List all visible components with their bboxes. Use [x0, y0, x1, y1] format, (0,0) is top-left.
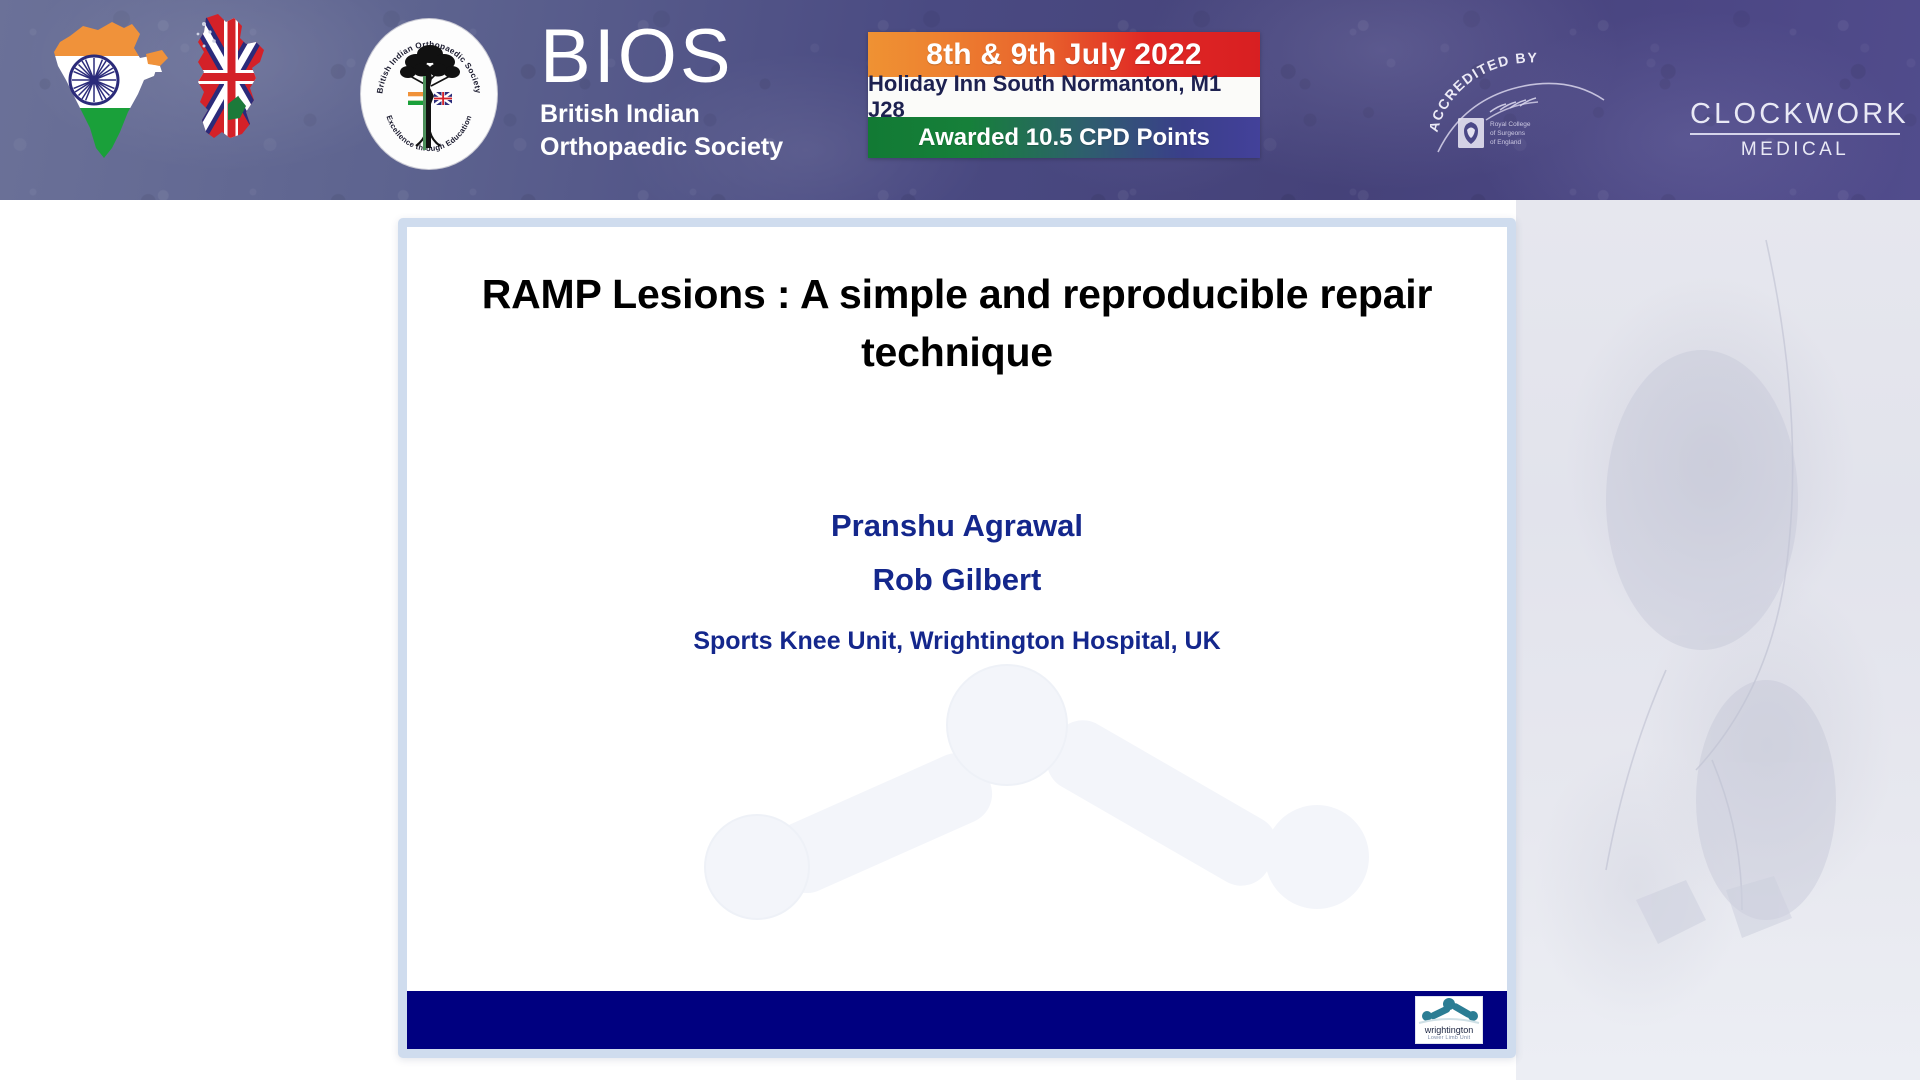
sponsor-subtitle: MEDICAL: [1690, 139, 1900, 161]
presentation-slide[interactable]: RAMP Lesions : A simple and reproducible…: [398, 218, 1516, 1058]
accreditation-mark: ACCREDITED BY Royal College of Surg: [1430, 48, 1660, 168]
conference-header-banner: British Indian Orthopaedic Society Excel…: [0, 0, 1920, 200]
sponsor-name: CLOCKWORK: [1690, 98, 1900, 130]
royal-college-line-2: of Surgeons: [1490, 130, 1526, 137]
presentation-screen: British Indian Orthopaedic Society Excel…: [0, 0, 1920, 1080]
background-ghost-image: [1516, 200, 1920, 1080]
sponsor-clockwork-medical: CLOCKWORK MEDICAL: [1690, 98, 1900, 161]
bios-wordmark: BIOS British Indian Orthopaedic Society: [540, 18, 783, 162]
royal-college-crest-icon: [1458, 118, 1484, 148]
slide-footer-bar: wrightington Lower Limb Unit: [407, 991, 1507, 1049]
author-list: Pranshu Agrawal Rob Gilbert: [447, 499, 1467, 607]
wrightington-logo-name: wrightington: [1425, 1025, 1474, 1035]
author-name: Rob Gilbert: [447, 553, 1467, 607]
royal-college-line-3: of England: [1490, 139, 1521, 146]
bios-tree-emblem-icon: British Indian Orthopaedic Society Excel…: [360, 18, 498, 170]
bios-acronym: BIOS: [540, 18, 783, 96]
slide-title: RAMP Lesions : A simple and reproducible…: [447, 265, 1467, 381]
india-uk-flag-map-icon: [28, 8, 278, 168]
event-cpd-points: Awarded 10.5 CPD Points: [868, 117, 1260, 158]
wrightington-footer-logo: wrightington Lower Limb Unit: [1415, 996, 1483, 1044]
bios-name-line-2: Orthopaedic Society: [540, 133, 783, 162]
event-details-banner: 8th & 9th July 2022 Holiday Inn South No…: [868, 32, 1260, 158]
author-affiliation: Sports Knee Unit, Wrightington Hospital,…: [447, 627, 1467, 656]
slide-content-area: RAMP Lesions : A simple and reproducible…: [407, 227, 1507, 1049]
wrightington-logo-subtitle: Lower Limb Unit: [1428, 1035, 1471, 1042]
wrightington-limb-watermark-icon: [617, 657, 1417, 937]
event-venue: Holiday Inn South Normanton, M1 J28: [868, 77, 1260, 117]
sponsor-divider: [1690, 133, 1900, 135]
royal-college-line-1: Royal College: [1490, 121, 1531, 128]
wrightington-limb-icon: [1417, 997, 1481, 1025]
bios-name-line-1: British Indian: [540, 100, 783, 129]
author-name: Pranshu Agrawal: [447, 499, 1467, 553]
